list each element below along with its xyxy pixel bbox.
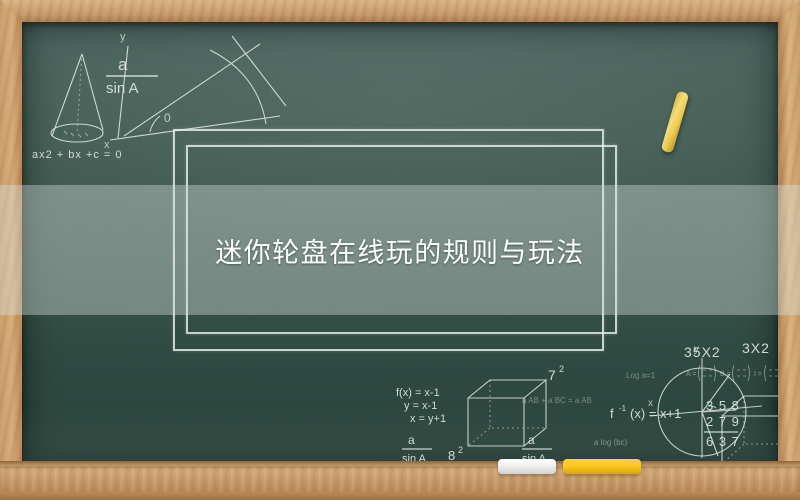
ledge-lip [0, 492, 800, 500]
title-band: 迷你轮盘在线玩的规则与玩法 [0, 185, 800, 315]
chalkboard-scene: a sin A ax2 + bx +c = 0 0 y x [0, 0, 800, 500]
yellow-chalk-stick-ledge[interactable] [563, 459, 641, 474]
chalk-dust-haze [22, 408, 778, 468]
wood-frame-top [0, 0, 800, 22]
page-title: 迷你轮盘在线玩的规则与玩法 [215, 231, 584, 270]
white-chalk-stick-ledge[interactable] [498, 459, 556, 474]
